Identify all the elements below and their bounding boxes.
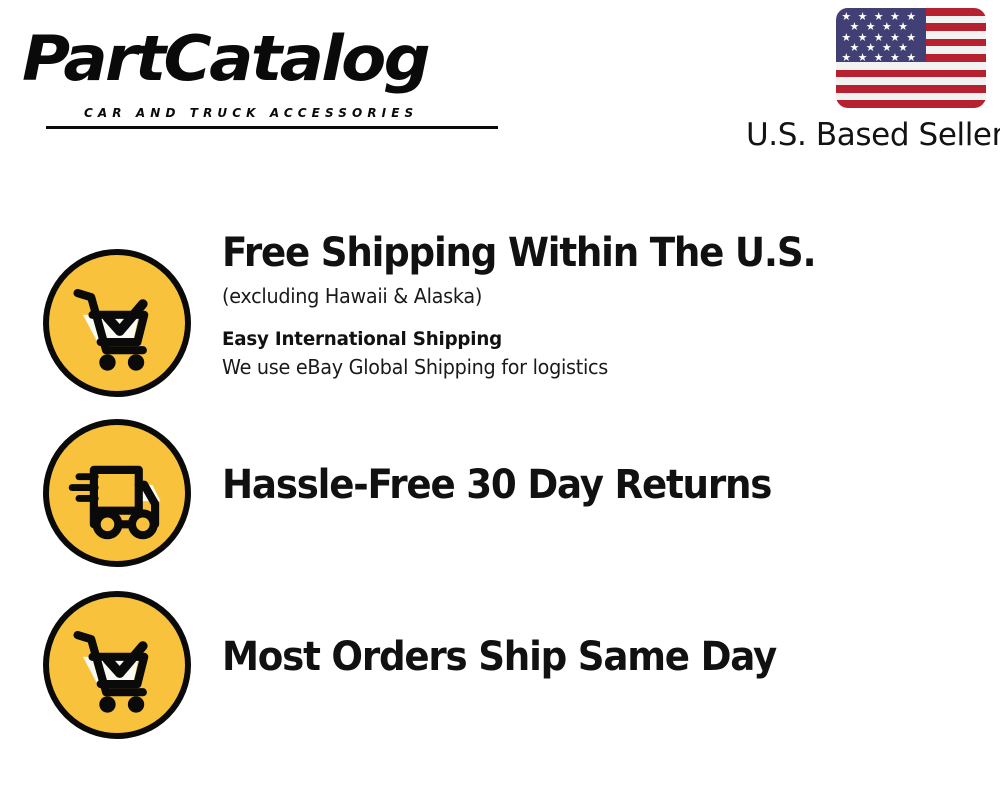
feature-text-block: Most Orders Ship Same Day <box>222 634 962 680</box>
flag-stripe <box>836 93 986 101</box>
brand-logo[interactable]: PartCatalog CAR AND TRUCK ACCESSORIES <box>22 22 492 114</box>
flag-stripe <box>836 70 986 78</box>
us-flag-icon: ★ ★ ★ ★ ★ ★ ★ ★ ★ ★ ★ ★ ★ ★ ★ ★ ★ ★ ★ ★ <box>836 8 986 108</box>
flag-stripe <box>836 100 986 108</box>
flag-stripe <box>836 77 986 85</box>
feature-subtitle: (excluding Hawaii & Alaska) <box>222 282 932 310</box>
feature-text-block: Free Shipping Within The U.S. (excluding… <box>222 230 962 381</box>
page-header: PartCatalog CAR AND TRUCK ACCESSORIES ★ … <box>0 0 1000 170</box>
brand-wordmark: PartCatalog <box>22 22 428 96</box>
us-based-seller-badge: ★ ★ ★ ★ ★ ★ ★ ★ ★ ★ ★ ★ ★ ★ ★ ★ ★ ★ ★ ★ <box>746 8 986 153</box>
flag-stripe <box>836 85 986 93</box>
feature-text-block: Hassle-Free 30 Day Returns <box>222 462 962 508</box>
flag-canton: ★ ★ ★ ★ ★ ★ ★ ★ ★ ★ ★ ★ ★ ★ ★ ★ ★ ★ ★ ★ <box>836 8 926 62</box>
us-based-seller-label: U.S. Based Seller <box>746 117 986 153</box>
feature-title: Most Orders Ship Same Day <box>222 634 910 680</box>
shopping-cart-check-icon <box>43 249 191 397</box>
shopping-cart-check-icon <box>43 591 191 739</box>
feature-title: Hassle-Free 30 Day Returns <box>222 462 910 508</box>
feature-secondary-subtitle: We use eBay Global Shipping for logistic… <box>222 353 932 381</box>
feature-title: Free Shipping Within The U.S. <box>222 230 910 276</box>
feature-secondary-title: Easy International Shipping <box>222 326 932 352</box>
brand-tagline: CAR AND TRUCK ACCESSORIES <box>84 106 418 120</box>
delivery-truck-icon <box>43 419 191 567</box>
brand-underline-rule <box>46 126 498 129</box>
